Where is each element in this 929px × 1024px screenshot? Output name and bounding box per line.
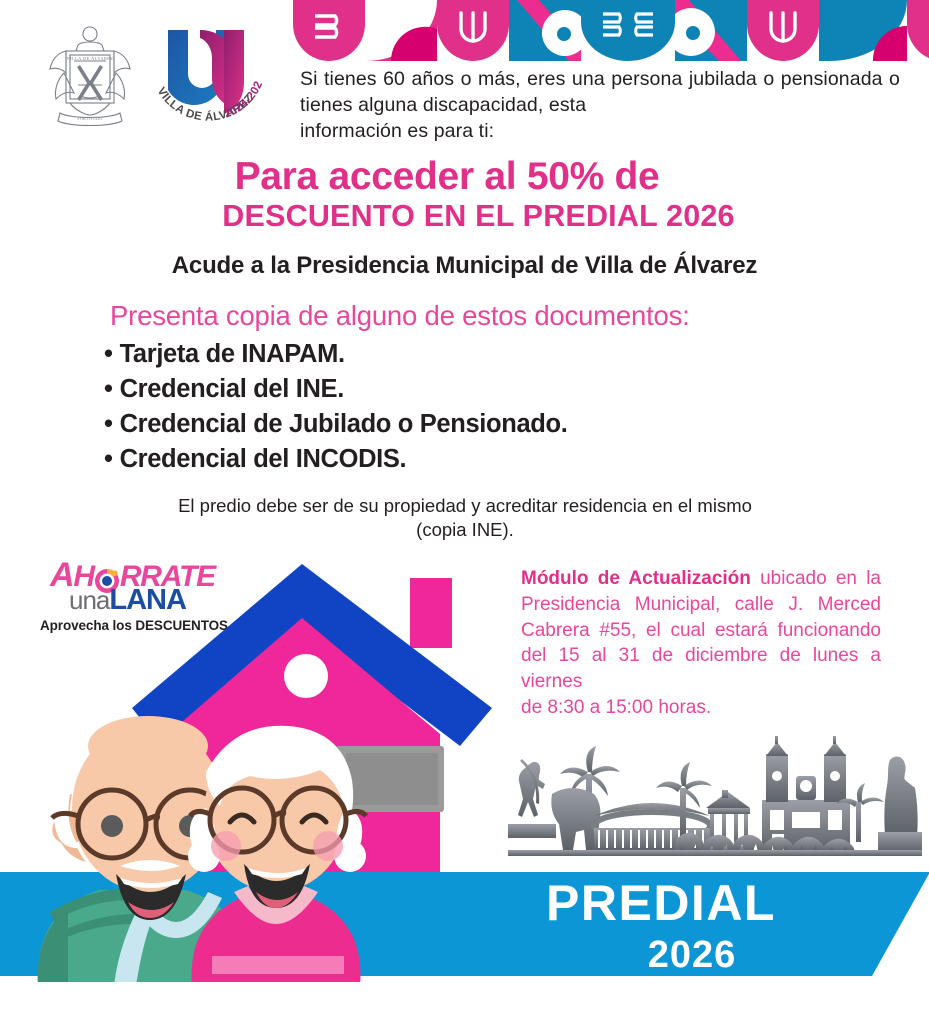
banner-tile-semi-circle-2 [819, 0, 907, 61]
bullet-icon: • [104, 442, 113, 477]
list-item: •Credencial de Jubilado o Pensionado. [104, 407, 568, 442]
intro-paragraph: Si tienes 60 años o más, eres una person… [300, 66, 900, 144]
banner-tile-glyph-s [907, 0, 929, 61]
intro-last-line: información es para ti: [300, 118, 900, 144]
list-item-label: Credencial del INE. [120, 375, 344, 403]
banner-tile-glyph-tulip [437, 0, 509, 61]
list-item-label: Credencial de Jubilado o Pensionado. [120, 410, 568, 438]
villa-de-alvarez-logo: VILLA DE ÁLVAREZ 2024-2027 [140, 22, 280, 132]
documents-list: •Tarjeta de INAPAM. •Credencial del INE.… [104, 337, 568, 477]
intro-text: Si tienes 60 años o más, eres una person… [300, 68, 900, 116]
banner-tile-glyph-step [293, 0, 365, 61]
svg-text:VILLA DE ÁLVAREZ: VILLA DE ÁLVAREZ [67, 56, 114, 61]
property-note: El predio debe ser de su propiedad y acr… [155, 494, 775, 543]
headline-line-1: Para acceder al 50% de [0, 156, 929, 197]
presenta-heading: Presenta copia de alguno de estos docume… [110, 300, 690, 332]
bullet-icon: • [104, 407, 113, 442]
banner-tile-glyph-eye-diagonal [509, 0, 581, 61]
list-item-label: Credencial del INCODIS. [120, 445, 407, 473]
headline-line-2: DESCUENTO EN EL PREDIAL 2026 [28, 199, 929, 233]
footer-whitespace [0, 982, 929, 1024]
predial-badge: PREDIAL 2026 [516, 878, 806, 974]
bullet-icon: • [104, 372, 113, 407]
banner-tile-glyph-butterfly [581, 0, 675, 61]
list-item: •Credencial del INE. [104, 372, 568, 407]
page-title: Para acceder al 50% de DESCUENTO EN EL P… [0, 156, 929, 233]
poster-root: VILLA DE ÁLVAREZ FORTITUDO V [0, 0, 929, 1024]
banner-tile-glyph-tulip-2 [747, 0, 819, 61]
svg-text:FORTITUDO: FORTITUDO [77, 116, 102, 121]
banner-tile-semi-circle [365, 0, 437, 61]
decorative-glyph-banner [293, 0, 929, 61]
acude-subtitle: Acude a la Presidencia Municipal de Vill… [0, 252, 929, 280]
coat-of-arms-icon: VILLA DE ÁLVAREZ FORTITUDO [44, 23, 136, 131]
villa-de-alvarez-landmarks-silhouette [490, 736, 929, 876]
banner-tile-glyph-eye-diagonal-2 [675, 0, 747, 61]
predial-year: 2026 [578, 936, 806, 974]
list-item-label: Tarjeta de INAPAM. [120, 340, 345, 368]
list-item: •Tarjeta de INAPAM. [104, 337, 568, 372]
elderly-couple-illustration [20, 716, 440, 986]
bullet-icon: • [104, 337, 113, 372]
predial-title: PREDIAL [516, 878, 806, 928]
list-item: •Credencial del INCODIS. [104, 442, 568, 477]
